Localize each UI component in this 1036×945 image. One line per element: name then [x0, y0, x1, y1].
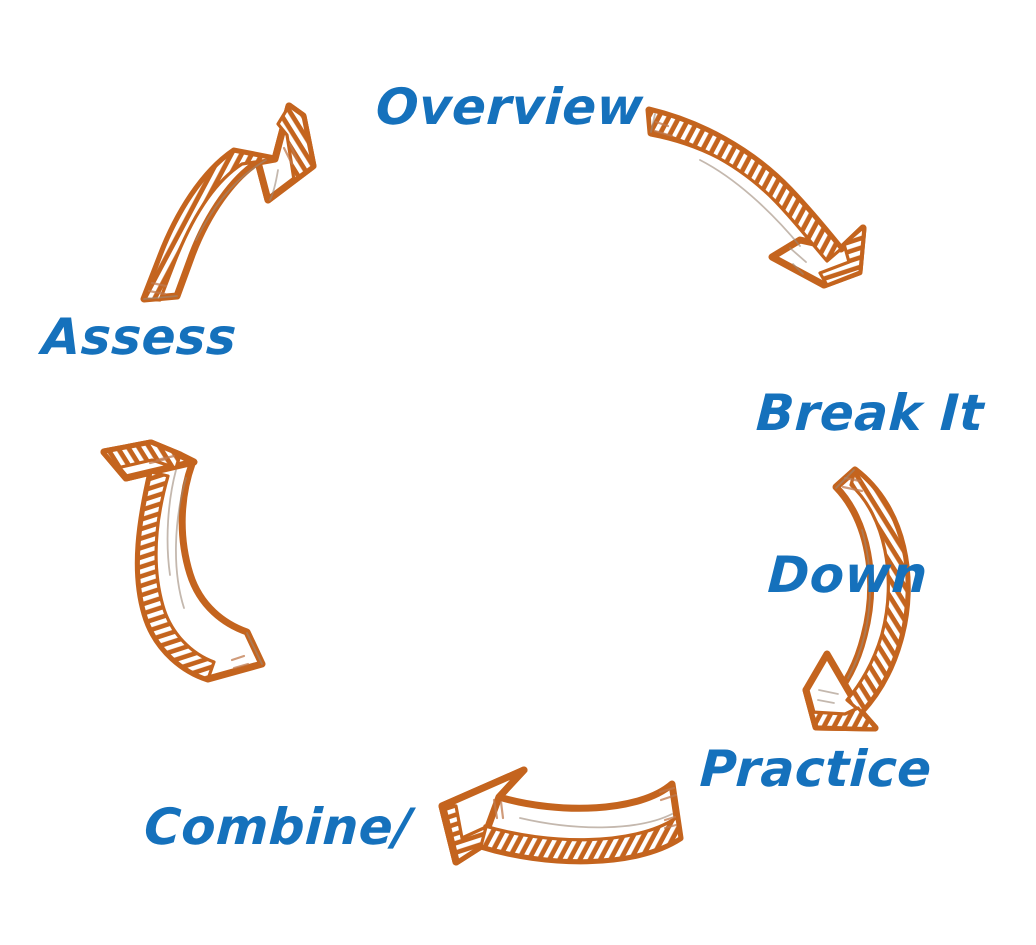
step-label-break-it-down[interactable]: Break It Down — [741, 278, 964, 710]
step-label-break-it-down-line2: Down — [746, 548, 949, 602]
arrow-assess-to-overview — [144, 106, 313, 300]
arrow-practice-to-combine — [442, 770, 680, 862]
arrow-combine-to-assess — [104, 443, 262, 679]
step-label-combine-integrate[interactable]: Combine/ Integrate — [129, 692, 412, 945]
step-label-assess[interactable]: Assess — [41, 310, 238, 364]
step-label-combine-integrate-line1: Combine/ — [143, 800, 406, 854]
cycle-diagram: .ink { stroke: #C4641E; fill: none; stro… — [0, 0, 1036, 945]
step-label-practice[interactable]: Practice — [699, 742, 934, 796]
arrow-overview-to-break — [649, 110, 864, 285]
step-label-break-it-down-line1: Break It — [755, 386, 958, 440]
step-label-overview[interactable]: Overview — [375, 80, 645, 134]
